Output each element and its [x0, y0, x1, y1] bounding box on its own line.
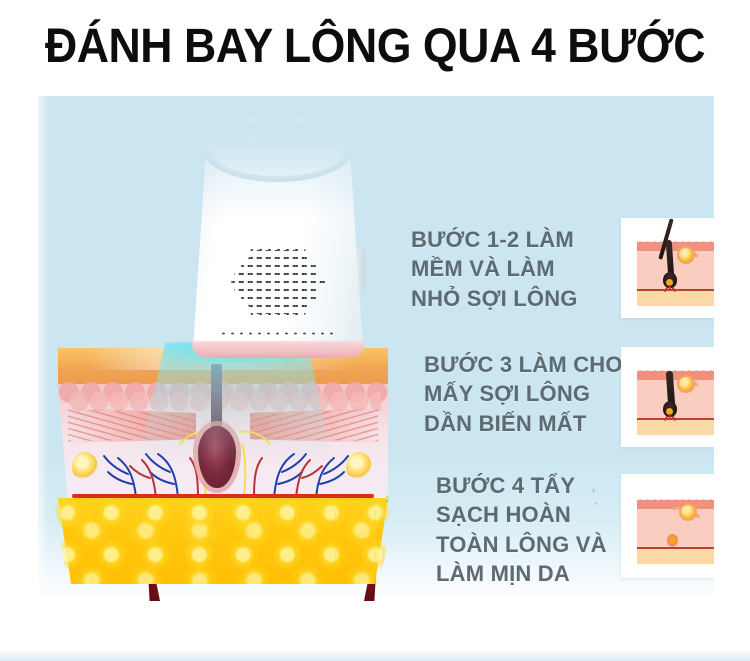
mini-root-vessel — [669, 414, 671, 420]
mini-sebaceous-gland — [677, 375, 695, 393]
step-4-thumbnail-card — [621, 474, 714, 578]
step-3-thumbnail-card — [621, 347, 714, 447]
device-top-fade — [185, 98, 371, 218]
device-vent-row — [219, 330, 337, 337]
infographic-root: ĐÁNH BAY LÔNG QUA 4 BƯỚC — [0, 0, 750, 661]
sparkle-artifact-left: : — [385, 490, 389, 505]
illustration-panel: BƯỚC 1-2 LÀM MỀM VÀ LÀM NHỎ SỢI LÔNG BƯỚ… — [38, 96, 714, 601]
mini-fat-layer — [637, 549, 714, 564]
mini-sebaceous-gland — [677, 246, 695, 264]
artery-line — [72, 494, 374, 498]
mini-empty-follicle — [667, 534, 678, 547]
step-1-2-text: BƯỚC 1-2 LÀM MỀM VÀ LÀM NHỎ SỢI LÔNG — [411, 225, 611, 313]
mini-diagram-no-hair — [637, 490, 714, 564]
step-4-text: BƯỚC 4 TẨY SẠCH HOÀN TOÀN LÔNG VÀ LÀM MỊ… — [436, 471, 616, 589]
device-side-button[interactable] — [358, 248, 365, 292]
mini-epidermis — [637, 371, 714, 380]
bottom-accent-band — [0, 649, 750, 661]
page-title: ĐÁNH BAY LÔNG QUA 4 BƯỚC — [26, 22, 724, 72]
fat-cell-outlines — [58, 498, 388, 584]
sparkle-artifact-right: ' — [592, 486, 595, 501]
step-3-text: BƯỚC 3 LÀM CHO MẤY SỢI LÔNG DẦN BIẾN MẤT — [424, 350, 624, 438]
mini-fat-layer — [637, 291, 714, 306]
mini-diagram-full-hair — [637, 232, 714, 306]
mini-fat-layer — [637, 420, 714, 435]
device-flash-window — [209, 349, 347, 358]
mini-sebaceous-gland — [679, 503, 697, 521]
step-1-2-thumbnail-card — [621, 218, 714, 318]
ipl-device — [185, 98, 371, 360]
mini-root-vessel — [669, 285, 671, 291]
sparkle-artifact-right-2: ` — [594, 500, 598, 515]
panel-left-fade — [38, 96, 48, 601]
mini-epidermis — [637, 242, 714, 251]
mini-diagram-short-hair — [637, 361, 714, 435]
